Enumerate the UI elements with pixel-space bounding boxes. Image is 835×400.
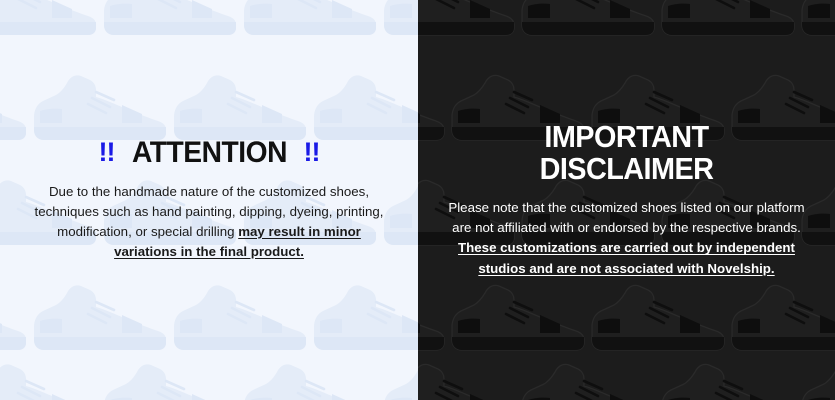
disclaimer-banner: !! ATTENTION !! Due to the handmade natu… xyxy=(0,0,835,400)
attention-heading: !! ATTENTION !! xyxy=(26,138,392,168)
attention-panel: !! ATTENTION !! Due to the handmade natu… xyxy=(0,0,418,400)
disclaimer-heading-line1: IMPORTANT xyxy=(457,121,796,153)
disclaimer-heading: IMPORTANT DISCLAIMER xyxy=(457,121,796,185)
disclaimer-heading-line2: DISCLAIMER xyxy=(457,153,796,185)
disclaimer-body-plain: Please note that the customized shoes li… xyxy=(448,200,804,235)
disclaimer-panel: IMPORTANT DISCLAIMER Please note that th… xyxy=(418,0,835,400)
disclaimer-content: IMPORTANT DISCLAIMER Please note that th… xyxy=(418,121,835,279)
disclaimer-body: Please note that the customized shoes li… xyxy=(444,198,809,279)
attention-content: !! ATTENTION !! Due to the handmade natu… xyxy=(0,138,418,263)
double-exclamation-left-icon: !! xyxy=(99,139,115,166)
disclaimer-body-emphasis: These customizations are carried out by … xyxy=(458,240,795,275)
attention-body: Due to the handmade nature of the custom… xyxy=(26,182,392,263)
double-exclamation-right-icon: !! xyxy=(303,139,319,166)
attention-heading-text: ATTENTION xyxy=(131,138,286,168)
